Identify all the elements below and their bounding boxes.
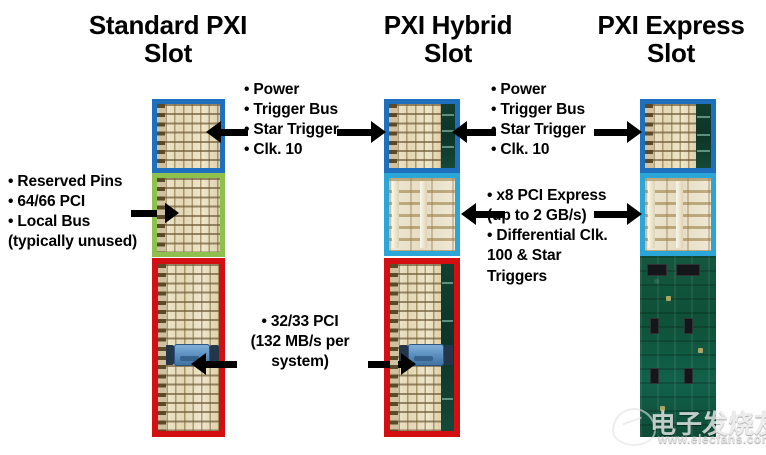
connector-dash-pcie-note (479, 211, 491, 217)
keying-tab-right (444, 345, 453, 364)
annotation-line: • Local Bus (8, 212, 138, 232)
pcb-chip (647, 264, 667, 276)
pxi-hybrid-xp-connector (384, 173, 460, 256)
arrow-head-right (371, 121, 386, 143)
annotation-line: (132 MB/s per (236, 332, 364, 352)
annotation-line: • 32/33 PCI (236, 312, 364, 332)
annotation-pci-note: • 32/33 PCI (132 MB/s per system) (236, 312, 364, 372)
annotation-standard-top-note: • Power • Trigger Bus • Star Trigger • C… (244, 80, 369, 161)
pxi-slot-diagram: Standard PXI Slot PXI Hybrid Slot PXI Ex… (0, 0, 766, 455)
annotation-hybrid-top-note: • Power • Trigger Bus • Star Trigger • C… (491, 80, 616, 161)
connector-dash-hybrid-note (482, 129, 494, 135)
pcb-chip (684, 368, 693, 384)
pcb-trace (442, 320, 453, 322)
annotation-line: • Clk. 10 (491, 140, 616, 160)
heading-pxi-express: PXI Express Slot (580, 12, 762, 67)
heading-standard-pxi-line2: Slot (48, 40, 288, 68)
arrow-head-left (452, 121, 467, 143)
annotation-line: • x8 PCI Express (487, 186, 633, 206)
annotation-line: Triggers (487, 267, 633, 287)
annotation-line: • Power (244, 80, 369, 100)
heading-pxi-express-line1: PXI Express (580, 12, 762, 40)
pcb-chip (676, 264, 700, 276)
p1-pin-field (645, 104, 696, 168)
xp-pin-field (645, 178, 711, 251)
arrow-head-left (461, 203, 476, 225)
annotation-line: • Trigger Bus (491, 100, 616, 120)
annotation-line: system) (236, 352, 364, 372)
arrow-shaft (337, 129, 372, 136)
annotation-pcie-note: • x8 PCI Express (up to 2 GB/s) • Differ… (487, 186, 633, 287)
pcb-chip (684, 318, 693, 334)
pcb-chip (650, 368, 659, 384)
heading-pxi-hybrid-line1: PXI Hybrid (340, 12, 556, 40)
keying-tab-left (165, 345, 174, 364)
pcb-trace (442, 282, 453, 284)
annotation-line: • Differential Clk. (487, 226, 633, 246)
pxi-express-pcb-board (640, 256, 716, 437)
connector-dash-standard-note (236, 129, 248, 135)
pcb-trace (697, 134, 710, 136)
pcb-trace (442, 146, 454, 148)
xp-pin-field (389, 178, 455, 251)
arrow-head-left (191, 353, 206, 375)
pxi-hybrid-p1-connector (384, 99, 460, 173)
annotation-line: • 64/66 PCI (8, 192, 138, 212)
standard-pxi-p2-connector (152, 173, 225, 257)
pcb-pad (698, 348, 703, 353)
arrow-head-right (627, 203, 642, 225)
pcb-pad (666, 296, 671, 301)
p1-pin-field (389, 104, 441, 168)
arrow-shaft (205, 361, 237, 368)
heading-standard-pxi-line1: Standard PXI (48, 12, 288, 40)
pxi-express-p1-connector (640, 99, 716, 173)
pcb-pad (660, 406, 665, 411)
arrow-head-right (627, 121, 642, 143)
annotation-line: • Clk. 10 (244, 140, 369, 160)
pcb-trace (697, 150, 710, 152)
pxi-hybrid-p3-connector (384, 258, 460, 437)
express-p1-pcb-strip (696, 104, 711, 168)
heading-pxi-hybrid: PXI Hybrid Slot (340, 12, 556, 67)
arrow-head-right (164, 202, 179, 224)
annotation-line: • Reserved Pins (8, 172, 138, 192)
arrow-shaft (594, 129, 628, 136)
pcb-chip (650, 318, 659, 334)
pcb-trace (442, 398, 453, 400)
annotation-line: 100 & Star (487, 246, 633, 266)
heading-standard-pxi: Standard PXI Slot (48, 12, 288, 67)
keying-slot (414, 356, 433, 361)
annotation-line: • Trigger Bus (244, 100, 369, 120)
arrow-head-right (401, 353, 416, 375)
heading-pxi-express-line2: Slot (580, 40, 762, 68)
arrow-head-left (206, 121, 221, 143)
annotation-left-note: • Reserved Pins • 64/66 PCI • Local Bus … (8, 172, 138, 253)
pcb-trace (442, 114, 454, 116)
pcb-trace (697, 116, 710, 118)
annotation-line: • Power (491, 80, 616, 100)
annotation-line: (typically unused) (8, 232, 138, 252)
heading-pxi-hybrid-line2: Slot (340, 40, 556, 68)
arrow-shaft (594, 211, 628, 218)
pxi-express-xp-connector (640, 173, 716, 256)
standard-pxi-p3-connector (152, 258, 225, 437)
